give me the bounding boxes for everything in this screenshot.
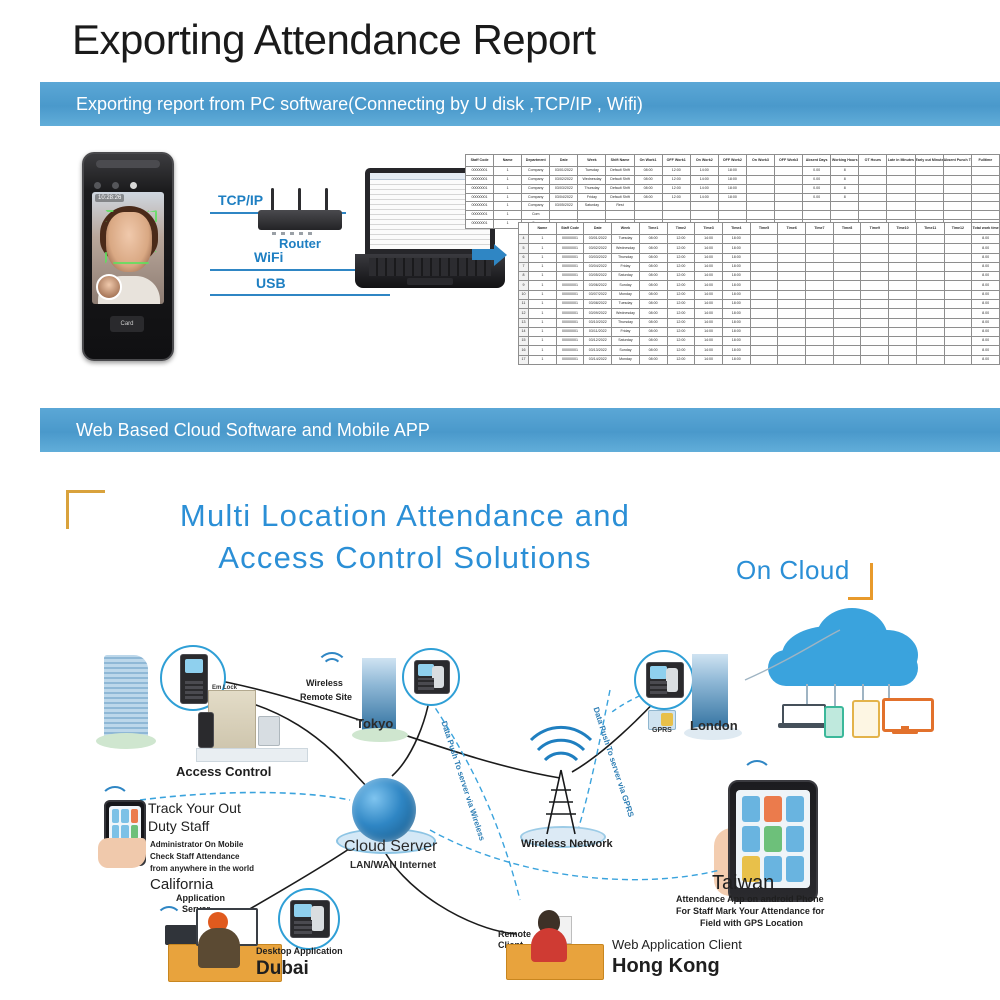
table-cell: 00000001 — [556, 327, 584, 336]
table-cell — [806, 262, 834, 271]
table-cell: 08:00 — [639, 281, 667, 290]
table-header-cell: Date — [584, 223, 612, 235]
table-cell: 18:00 — [722, 244, 750, 253]
table-cell — [916, 346, 944, 355]
table-cell: 18:00 — [722, 235, 750, 244]
table-row: 810000000103/05/2022Saturday08:0012:0014… — [519, 272, 1000, 281]
row-number-cell: 5 — [519, 244, 529, 253]
table-cell — [916, 337, 944, 346]
table-cell — [690, 211, 718, 220]
hand-icon — [98, 838, 146, 868]
table-cell: 18:00 — [722, 290, 750, 299]
table-cell: 08:00 — [634, 175, 662, 184]
on-cloud-label: On Cloud — [736, 555, 850, 586]
person-body-hongkong — [531, 928, 567, 962]
table-cell — [833, 262, 861, 271]
table-cell — [806, 253, 834, 262]
table-cell: 12:00 — [667, 309, 695, 318]
table-row: 1410000000103/11/2022Friday08:0012:0014:… — [519, 327, 1000, 336]
table-cell: 00000001 — [466, 175, 494, 184]
table-cell — [806, 327, 834, 336]
table-row: 000000011Company03/05/2022SaturdayRest — [466, 202, 1000, 211]
cloud-server-globe-icon — [352, 778, 416, 842]
desktop-application-label: Desktop Application — [256, 946, 343, 956]
table-cell: 1 — [494, 175, 522, 184]
table-cell — [833, 355, 861, 364]
table-cell — [806, 318, 834, 327]
cloud-server-label: Cloud Server — [344, 838, 437, 856]
table-cell: 03/03/2022 — [584, 253, 612, 262]
enrolled-face-thumbnail — [96, 274, 122, 300]
table-cell — [944, 299, 972, 308]
table-cell: 18:00 — [722, 253, 750, 262]
track-sub-line1: Administrator On Mobile — [150, 840, 243, 849]
wireless-remote-site-label-line1: Wireless — [306, 678, 343, 688]
table-corner — [519, 223, 529, 235]
table-cell: 1 — [529, 337, 557, 346]
table-cell — [750, 318, 778, 327]
table-cell: 12:00 — [662, 193, 690, 202]
table-cell — [806, 355, 834, 364]
table-cell — [944, 262, 972, 271]
decor-bracket-top-left — [66, 490, 105, 529]
section-bar-pc-export: Exporting report from PC software(Connec… — [40, 82, 1000, 126]
table-cell: 18:00 — [718, 167, 746, 176]
table-cell — [746, 167, 774, 176]
table-cell: 00000001 — [556, 318, 584, 327]
table-cell: 00000001 — [556, 355, 584, 364]
table-header-cell: OFF Work3 — [775, 155, 803, 167]
table-header-cell: Early out Minutes — [915, 155, 943, 167]
table-cell: 03/04/2022 — [584, 262, 612, 271]
table-cell: 1 — [529, 355, 557, 364]
table-cell: 00000001 — [556, 290, 584, 299]
application-server-line1: Application — [176, 893, 225, 903]
table-cell: 18:00 — [722, 337, 750, 346]
table-cell: 00000001 — [466, 184, 494, 193]
table-cell — [915, 184, 943, 193]
table-cell — [944, 355, 972, 364]
table-cell: 1 — [529, 253, 557, 262]
table-cell: 08:00 — [639, 337, 667, 346]
track-duty-staff-line1: Track Your Out — [148, 800, 241, 816]
table-cell: 18:00 — [718, 175, 746, 184]
row-number-cell: 4 — [519, 235, 529, 244]
table-cell — [861, 281, 889, 290]
table-cell: 8.00 — [972, 346, 1000, 355]
wireless-remote-site-label-line2: Remote Site — [300, 692, 352, 702]
table-cell — [859, 175, 887, 184]
exit-button-icon — [258, 716, 280, 746]
table-cell: 12:00 — [667, 262, 695, 271]
pc-export-illustration: 10:28:26 Card TCP/IP WiFi USB Router — [40, 140, 1000, 390]
table-cell: Thursday — [612, 253, 640, 262]
table-cell: 1 — [529, 299, 557, 308]
table-cell: 14:00 — [695, 355, 723, 364]
row-number-cell: 13 — [519, 318, 529, 327]
table-cell — [778, 235, 806, 244]
table-cell: Tuesday — [612, 235, 640, 244]
table-cell: 08:00 — [639, 318, 667, 327]
table-cell: 18:00 — [718, 184, 746, 193]
table-cell — [833, 346, 861, 355]
table-cell — [887, 211, 915, 220]
cloud-mobile-icon — [824, 706, 844, 738]
table-cell — [750, 309, 778, 318]
table-cell — [806, 299, 834, 308]
track-duty-staff-line2: Duty Staff — [148, 818, 209, 834]
table-cell: 18:00 — [722, 272, 750, 281]
taiwan-sub-line2: For Staff Mark Your Attendance for — [676, 906, 824, 916]
table-cell — [806, 309, 834, 318]
table-cell: 18:00 — [722, 318, 750, 327]
table-cell — [746, 175, 774, 184]
table-header-cell: Week — [612, 223, 640, 235]
table-row: 1210000000103/09/2022Wednesday08:0012:00… — [519, 309, 1000, 318]
table-cell — [889, 318, 917, 327]
table-cell — [944, 337, 972, 346]
table-cell: Wednesday — [578, 175, 606, 184]
table-cell — [861, 262, 889, 271]
taiwan-sub-line3: Field with GPS Location — [700, 918, 803, 928]
table-cell — [578, 211, 606, 220]
table-cell: 08:00 — [639, 355, 667, 364]
table-header-cell: Name — [494, 155, 522, 167]
table-row: 1510000000103/12/2022Saturday08:0012:001… — [519, 337, 1000, 346]
table-cell: 1 — [529, 272, 557, 281]
table-row: 000000011Company03/02/2022WednesdayDefau… — [466, 175, 1000, 184]
row-number-cell: 17 — [519, 355, 529, 364]
table-header-cell: On Work3 — [746, 155, 774, 167]
table-cell — [750, 244, 778, 253]
table-cell — [861, 253, 889, 262]
wireless-network-label: Wireless Network — [521, 838, 613, 850]
table-cell — [916, 253, 944, 262]
table-cell — [943, 175, 971, 184]
table-cell: 18:00 — [722, 262, 750, 271]
table-cell — [861, 235, 889, 244]
cloud-server-sublabel: LAN/WAN Internet — [350, 860, 436, 871]
cloud-laptop-icon — [778, 704, 826, 730]
decor-bracket-bottom-right — [848, 563, 873, 600]
table-cell — [859, 184, 887, 193]
table-header-cell: Time5 — [750, 223, 778, 235]
data-push-wireless-label: Data Push To server via Wireless — [439, 720, 486, 842]
table-cell — [916, 272, 944, 281]
london-label: London — [690, 718, 738, 733]
router-icon — [258, 188, 342, 234]
table-cell — [887, 193, 915, 202]
table-cell — [916, 318, 944, 327]
table-cell: 00000001 — [466, 193, 494, 202]
section-bar-cloud-app: Web Based Cloud Software and Mobile APP — [40, 408, 1000, 452]
table-cell — [746, 193, 774, 202]
table-row: 610000000103/03/2022Thursday08:0012:0014… — [519, 253, 1000, 262]
table-cell: 14:00 — [695, 244, 723, 253]
table-cell — [662, 211, 690, 220]
table-cell: 1 — [494, 184, 522, 193]
table-cell — [775, 202, 803, 211]
table-cell — [778, 244, 806, 253]
table-cell: 12:00 — [667, 235, 695, 244]
page-root: Exporting Attendance Report Exporting re… — [0, 0, 1000, 1000]
table-cell — [861, 327, 889, 336]
table-cell: 8 — [831, 184, 859, 193]
table-cell — [971, 193, 999, 202]
table-cell: Com — [522, 211, 550, 220]
table-header-cell: Time7 — [806, 223, 834, 235]
table-cell: 03/06/2022 — [584, 281, 612, 290]
table-cell — [778, 346, 806, 355]
table-cell — [750, 337, 778, 346]
table-cell: 12:00 — [662, 175, 690, 184]
table-cell: Company — [522, 202, 550, 211]
row-number-cell: 10 — [519, 290, 529, 299]
table-cell — [889, 309, 917, 318]
table-cell — [833, 337, 861, 346]
table-cell — [806, 272, 834, 281]
table-cell — [750, 299, 778, 308]
table-cell: 8.00 — [972, 235, 1000, 244]
table-cell — [833, 281, 861, 290]
table-cell — [943, 184, 971, 193]
taiwan-label: Taiwan — [712, 872, 774, 895]
table-cell: Saturday — [612, 337, 640, 346]
table-cell — [833, 318, 861, 327]
table-cell — [806, 244, 834, 253]
row-number-cell: 8 — [519, 272, 529, 281]
table-cell — [971, 175, 999, 184]
row-number-cell: 9 — [519, 281, 529, 290]
table-cell — [778, 299, 806, 308]
table-cell — [750, 346, 778, 355]
table-cell: Tuesday — [612, 299, 640, 308]
table-cell: 08:00 — [639, 262, 667, 271]
table-cell: 8.00 — [972, 244, 1000, 253]
table-cell — [944, 318, 972, 327]
table-cell: 8.00 — [972, 281, 1000, 290]
row-number-cell: 11 — [519, 299, 529, 308]
table-cell — [750, 281, 778, 290]
table-cell: 08:00 — [639, 299, 667, 308]
table-header-cell: Fulltime — [971, 155, 999, 167]
table-cell: 8.00 — [972, 355, 1000, 364]
table-cell: 03/12/2022 — [584, 337, 612, 346]
table-cell: 03/05/2022 — [550, 202, 578, 211]
building-ground — [96, 733, 156, 749]
table-cell: Company — [522, 193, 550, 202]
table-cell: 1 — [529, 346, 557, 355]
table-cell — [803, 202, 831, 211]
table-header-cell: Time11 — [916, 223, 944, 235]
table-cell: 00000001 — [556, 337, 584, 346]
table-cell: Tuesday — [578, 167, 606, 176]
table-cell: 12:00 — [662, 167, 690, 176]
sensor-dot — [94, 182, 101, 189]
table-cell: 8.00 — [972, 327, 1000, 336]
table-cell: 03/01/2022 — [550, 167, 578, 176]
row-number-cell: 14 — [519, 327, 529, 336]
table-cell: Wednesday — [612, 309, 640, 318]
table-cell: 12:00 — [667, 337, 695, 346]
table-cell — [859, 211, 887, 220]
connection-label-usb: USB — [256, 275, 286, 291]
table-row: 1010000000103/07/2022Monday08:0012:0014:… — [519, 290, 1000, 299]
table-cell: 12:00 — [667, 281, 695, 290]
table-header-cell: Time6 — [778, 223, 806, 235]
table-cell — [887, 202, 915, 211]
table-cell: Monday — [612, 355, 640, 364]
table-cell — [889, 299, 917, 308]
table-cell: 00000001 — [466, 167, 494, 176]
tokyo-label: Tokyo — [356, 716, 393, 731]
table-cell: 03/02/2022 — [550, 175, 578, 184]
table-row: 510000000103/02/2022Wednesday08:0012:001… — [519, 244, 1000, 253]
table-cell: 00000001 — [556, 299, 584, 308]
table-cell — [550, 211, 578, 220]
table-row: 1110000000103/08/2022Tuesday08:0012:0014… — [519, 299, 1000, 308]
table-cell — [606, 211, 634, 220]
table-cell — [889, 290, 917, 299]
table-cell: 18:00 — [722, 355, 750, 364]
table-cell — [775, 175, 803, 184]
table-cell — [859, 193, 887, 202]
table-cell — [831, 202, 859, 211]
table-cell — [943, 211, 971, 220]
table-cell: 14:00 — [690, 175, 718, 184]
table-cell — [887, 184, 915, 193]
table-cell: 12:00 — [667, 272, 695, 281]
hong-kong-label: Hong Kong — [612, 955, 720, 978]
table-cell — [778, 355, 806, 364]
table-cell — [861, 337, 889, 346]
table-cell: 18:00 — [718, 193, 746, 202]
table-cell — [916, 355, 944, 364]
table-cell — [775, 193, 803, 202]
table-cell: Default Shift — [606, 184, 634, 193]
table-cell — [861, 272, 889, 281]
web-application-client-label: Web Application Client — [612, 937, 742, 952]
table-row: 000000011Company03/01/2022TuesdayDefault… — [466, 167, 1000, 176]
table-cell — [778, 281, 806, 290]
table-cell: 1 — [529, 327, 557, 336]
table-header-cell: Staff Code — [556, 223, 584, 235]
table-cell — [943, 193, 971, 202]
table-cell: 12:00 — [667, 290, 695, 299]
table-cell: Friday — [578, 193, 606, 202]
table-cell — [634, 202, 662, 211]
table-cell — [718, 211, 746, 220]
table-cell — [887, 175, 915, 184]
table-cell: 14:00 — [690, 184, 718, 193]
table-cell — [750, 262, 778, 271]
table-cell — [831, 211, 859, 220]
table-cell — [944, 290, 972, 299]
table-cell: 08:00 — [634, 193, 662, 202]
cloud-tablet-icon — [852, 700, 880, 738]
table-cell — [806, 235, 834, 244]
table-cell — [889, 281, 917, 290]
table-header-cell: Date — [550, 155, 578, 167]
table-cell — [806, 281, 834, 290]
row-number-cell: 16 — [519, 346, 529, 355]
attendance-summary-table: Staff CodeNameDepartmentDateWeekShift Na… — [465, 154, 1000, 229]
table-cell — [916, 262, 944, 271]
table-cell: 00000001 — [556, 235, 584, 244]
table-header-cell: Time2 — [667, 223, 695, 235]
table-cell: 00000001 — [466, 202, 494, 211]
table-cell: 12:00 — [662, 184, 690, 193]
table-cell — [778, 253, 806, 262]
table-cell: 8.00 — [972, 318, 1000, 327]
table-cell: 12:00 — [667, 318, 695, 327]
table-cell — [859, 202, 887, 211]
fingerprint-terminal-icon — [180, 654, 208, 704]
gprs-label: GPRS — [652, 727, 672, 734]
table-cell — [750, 272, 778, 281]
table-cell — [971, 202, 999, 211]
table-cell: 14:00 — [695, 346, 723, 355]
table-cell: 14:00 — [695, 327, 723, 336]
table-cell — [861, 244, 889, 253]
table-header-cell: OT Hours — [859, 155, 887, 167]
card-reader-icon: Card — [110, 316, 144, 332]
table-cell: 00000001 — [556, 244, 584, 253]
table-cell: Default Shift — [606, 175, 634, 184]
table-cell — [778, 272, 806, 281]
table-row: 1610000000103/13/2022Sunday08:0012:0014:… — [519, 346, 1000, 355]
table-cell — [944, 244, 972, 253]
section-bar-pc-export-label: Exporting report from PC software(Connec… — [40, 94, 643, 115]
table-cell: 1 — [529, 309, 557, 318]
table-cell: 00000001 — [556, 262, 584, 271]
table-row: 1710000000103/14/2022Monday08:0012:0014:… — [519, 355, 1000, 364]
table-cell: 12:00 — [667, 244, 695, 253]
em-lock-label: Em Lock — [212, 685, 237, 691]
table-cell — [916, 290, 944, 299]
table-cell — [915, 193, 943, 202]
table-cell: 00000001 — [466, 211, 494, 220]
dubai-label: Dubai — [256, 958, 309, 980]
table-cell: 03/03/2022 — [550, 184, 578, 193]
table-cell: 00000001 — [466, 220, 494, 229]
table-header-cell: Time10 — [889, 223, 917, 235]
door-reader-icon — [198, 712, 214, 748]
table-cell — [775, 184, 803, 193]
table-cell — [803, 211, 831, 220]
table-cell — [775, 167, 803, 176]
table-cell: 00000001 — [556, 253, 584, 262]
cloud-headline-line1: Multi Location Attendance and — [120, 495, 690, 537]
table-cell — [833, 244, 861, 253]
table-cell: 00000001 — [556, 272, 584, 281]
table-cell: 12:00 — [667, 253, 695, 262]
table-cell: 8 — [831, 193, 859, 202]
table-cell: 18:00 — [722, 346, 750, 355]
table-cell — [889, 327, 917, 336]
table-header-cell: Total work time — [972, 223, 1000, 235]
table-header-cell: Staff Code — [466, 155, 494, 167]
table-cell: 1 — [494, 211, 522, 220]
track-sub-line3: from anywhere in the world — [150, 864, 254, 873]
table-cell — [915, 175, 943, 184]
ir-led-icon — [130, 182, 137, 189]
person-body-dubai — [198, 928, 240, 968]
table-cell — [943, 167, 971, 176]
table-cell: Thursday — [578, 184, 606, 193]
table-header-cell: Working Hours — [831, 155, 859, 167]
data-push-gprs-label: Data Push To server via GPRS — [591, 706, 635, 818]
